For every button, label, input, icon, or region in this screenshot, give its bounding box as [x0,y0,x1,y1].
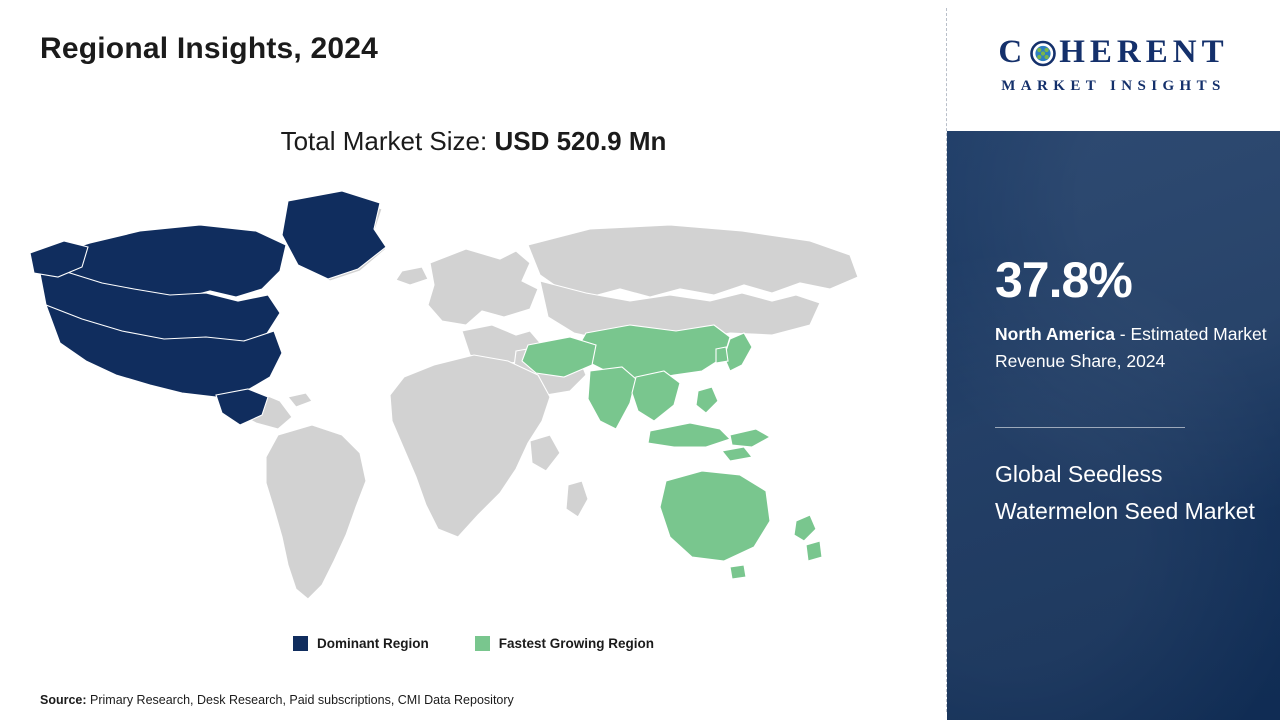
map-legend: Dominant Region Fastest Growing Region [0,636,947,651]
regional-insights-infographic: Regional Insights, 2024 Total Market Siz… [0,0,1280,720]
map-region-fastest-growing [522,325,822,579]
left-panel: Regional Insights, 2024 Total Market Siz… [0,0,947,720]
right-panel: C HERENT MARKET INSIGHTS [947,0,1280,720]
world-map [30,185,910,615]
legend-label-fastest: Fastest Growing Region [499,636,654,651]
total-market-size: Total Market Size: USD 520.9 Mn [0,126,947,157]
globe-icon [1028,38,1058,68]
legend-item-dominant: Dominant Region [293,636,429,651]
brand-letter-c: C [998,36,1027,69]
page-title: Regional Insights, 2024 [40,32,378,66]
legend-item-fastest: Fastest Growing Region [475,636,654,651]
share-percentage: 37.8% [995,255,1132,305]
map-region-dominant [30,191,386,425]
source-note: Source: Primary Research, Desk Research,… [40,693,514,707]
share-description: North America - Estimated Market Revenue… [995,321,1267,375]
legend-swatch-dominant [293,636,308,651]
brand-name-bottom: MARKET INSIGHTS [1001,78,1226,95]
divider-rule [995,427,1185,428]
brand-logo: C HERENT MARKET INSIGHTS [947,0,1280,131]
brand-name-rest: HERENT [1059,36,1228,69]
brand-name-top: C HERENT [998,36,1228,69]
source-text: Primary Research, Desk Research, Paid su… [87,693,514,707]
source-label: Source: [40,693,87,707]
legend-swatch-fastest [475,636,490,651]
market-size-value: USD 520.9 Mn [494,126,666,156]
market-size-label: Total Market Size: [281,126,495,156]
highlight-panel: 37.8% North America - Estimated Market R… [947,131,1280,720]
share-region: North America [995,324,1115,344]
legend-label-dominant: Dominant Region [317,636,429,651]
market-title: Global Seedless Watermelon Seed Market [995,456,1257,531]
